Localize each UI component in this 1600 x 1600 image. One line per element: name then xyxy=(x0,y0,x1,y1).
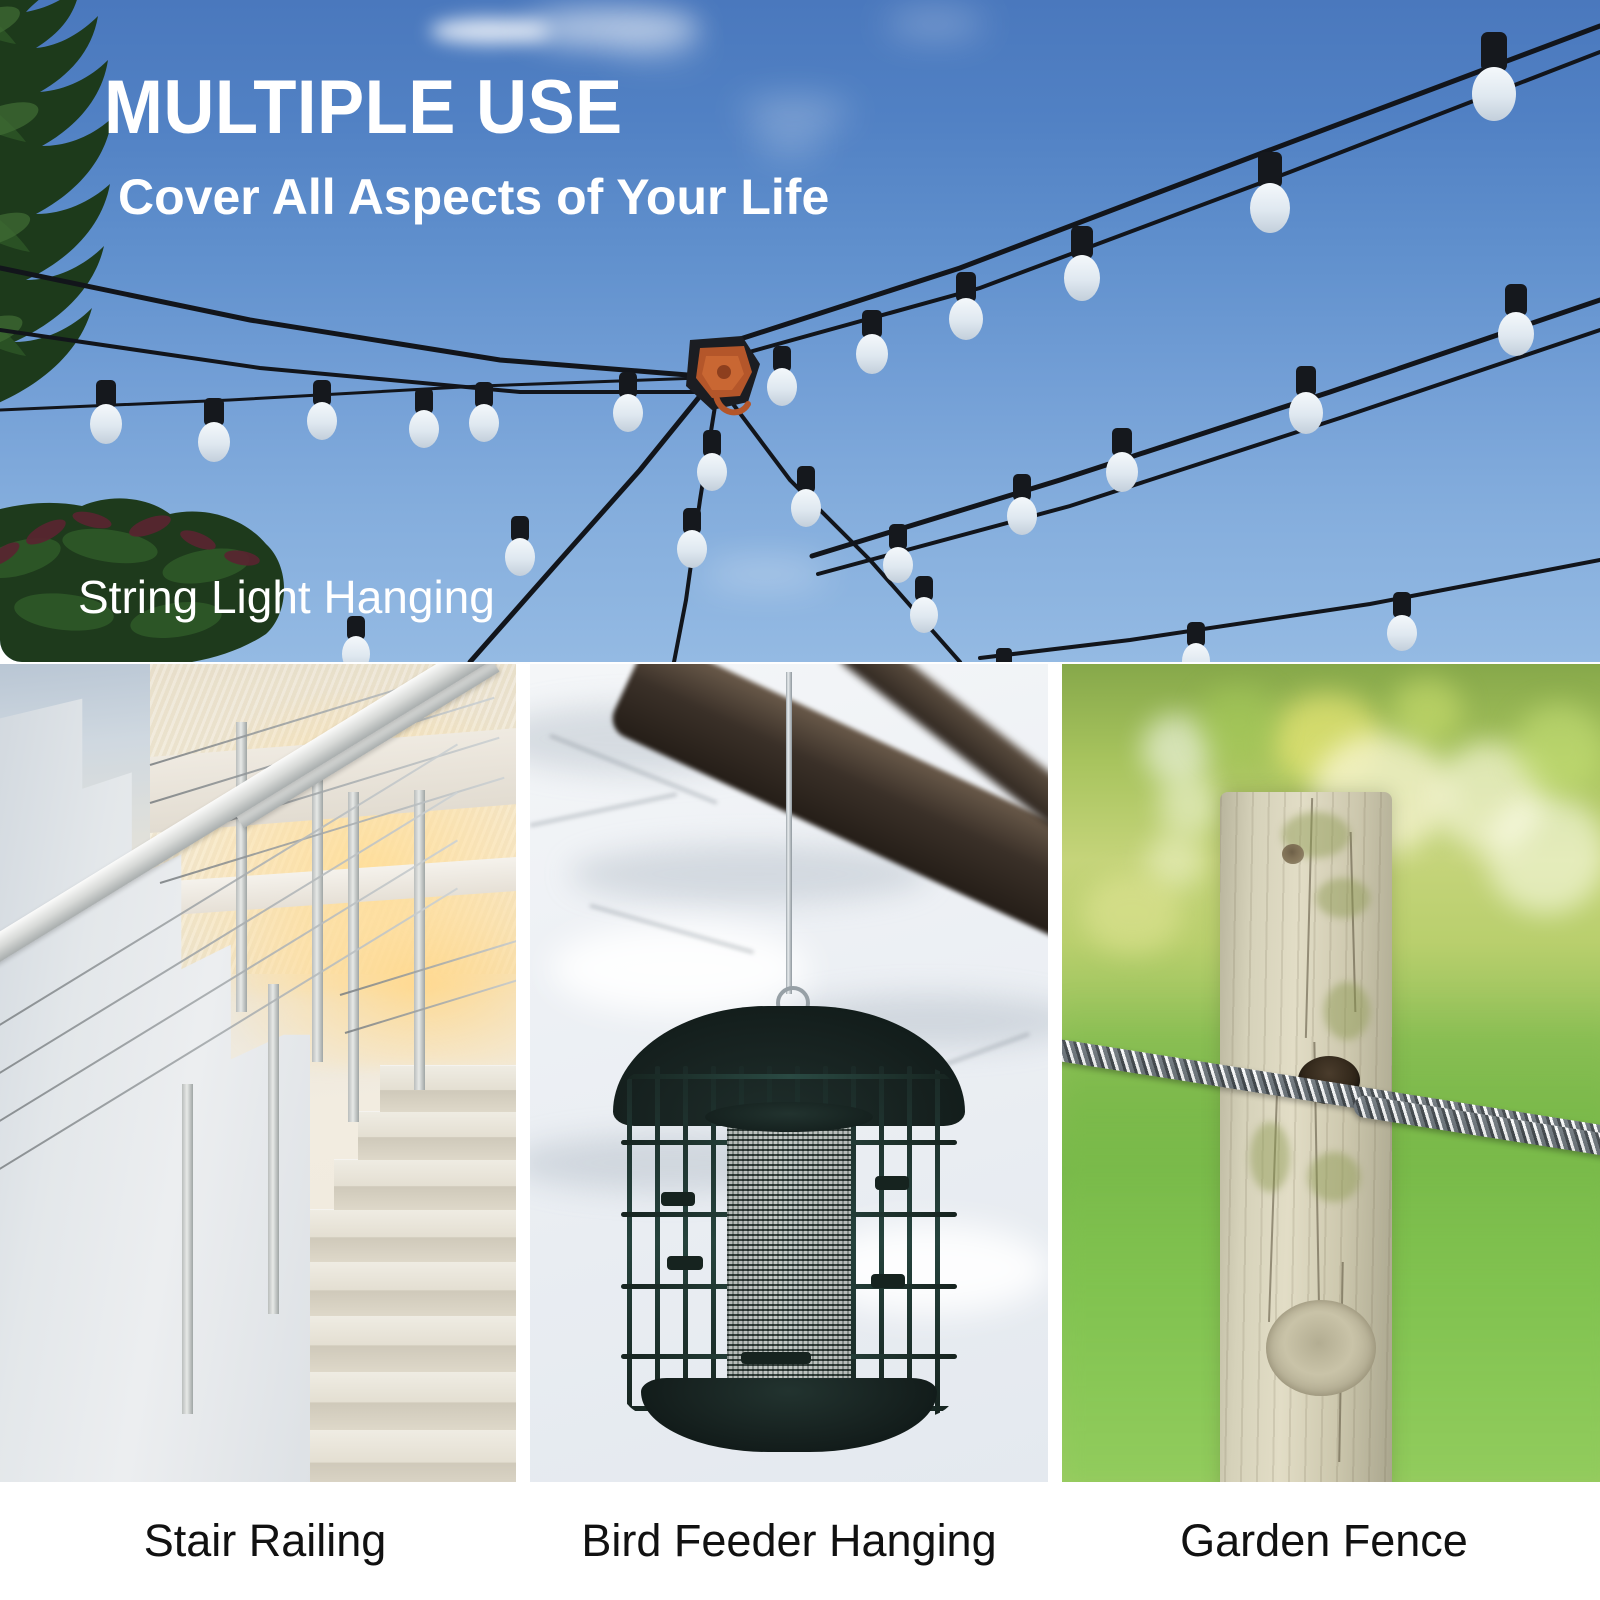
railing-post xyxy=(268,984,279,1314)
hero-headline: MULTIPLE USE xyxy=(104,72,778,145)
step xyxy=(334,1159,516,1210)
bokeh-highlight xyxy=(1392,678,1462,742)
bokeh-highlight xyxy=(1158,774,1220,836)
use-case-panel-row xyxy=(0,664,1600,1482)
bokeh-highlight xyxy=(1082,874,1182,954)
feeder-tube-cap xyxy=(705,1102,873,1132)
bokeh-highlight xyxy=(1198,686,1278,760)
caption-row: Stair Railing Bird Feeder Hanging Garden… xyxy=(0,1482,1600,1600)
feeder-perch xyxy=(875,1176,909,1190)
wooden-fence-post xyxy=(1220,792,1392,1482)
feeder-perch xyxy=(871,1274,905,1288)
moss-patch xyxy=(1316,878,1370,918)
bird-feeder xyxy=(613,1006,965,1446)
product-feature-image: MULTIPLE USE Cover All Aspects of Your L… xyxy=(0,0,1600,1600)
moss-patch xyxy=(1308,1152,1360,1202)
snow-highlight xyxy=(550,924,810,1014)
hero-use-case-caption: String Light Hanging xyxy=(78,570,495,624)
bokeh-highlight xyxy=(1514,704,1600,794)
caption-garden-fence: Garden Fence xyxy=(1048,1482,1600,1600)
panel-bird-feeder[interactable] xyxy=(530,664,1048,1482)
panel-stair-railing[interactable] xyxy=(0,664,516,1482)
wood-knot-large xyxy=(1266,1300,1376,1396)
railing-post xyxy=(182,1084,193,1414)
railing-post xyxy=(312,762,323,1062)
moss-patch xyxy=(1324,982,1370,1040)
step xyxy=(308,1209,516,1262)
step xyxy=(380,1065,516,1112)
step xyxy=(358,1111,516,1160)
caption-bird-feeder: Bird Feeder Hanging xyxy=(530,1482,1048,1600)
feeder-perch xyxy=(661,1192,695,1206)
step xyxy=(282,1261,516,1316)
caption-stair-railing: Stair Railing xyxy=(0,1482,530,1600)
feeder-base-tray xyxy=(641,1378,937,1452)
bokeh-highlight xyxy=(1486,794,1600,914)
railing-post xyxy=(348,792,359,1122)
feeder-seed-tube xyxy=(727,1116,851,1416)
railing-post xyxy=(414,790,425,1090)
feeder-perch xyxy=(741,1352,811,1364)
wood-knot-small xyxy=(1282,844,1304,864)
moss-patch xyxy=(1250,1122,1290,1192)
hero-text-block: MULTIPLE USE Cover All Aspects of Your L… xyxy=(104,72,829,223)
hero-panel-string-light: MULTIPLE USE Cover All Aspects of Your L… xyxy=(0,0,1600,662)
steel-hanging-cable xyxy=(786,672,792,994)
feeder-perch xyxy=(667,1256,703,1270)
hero-subtitle: Cover All Aspects of Your Life xyxy=(118,171,829,224)
panel-garden-fence[interactable] xyxy=(1062,664,1600,1482)
